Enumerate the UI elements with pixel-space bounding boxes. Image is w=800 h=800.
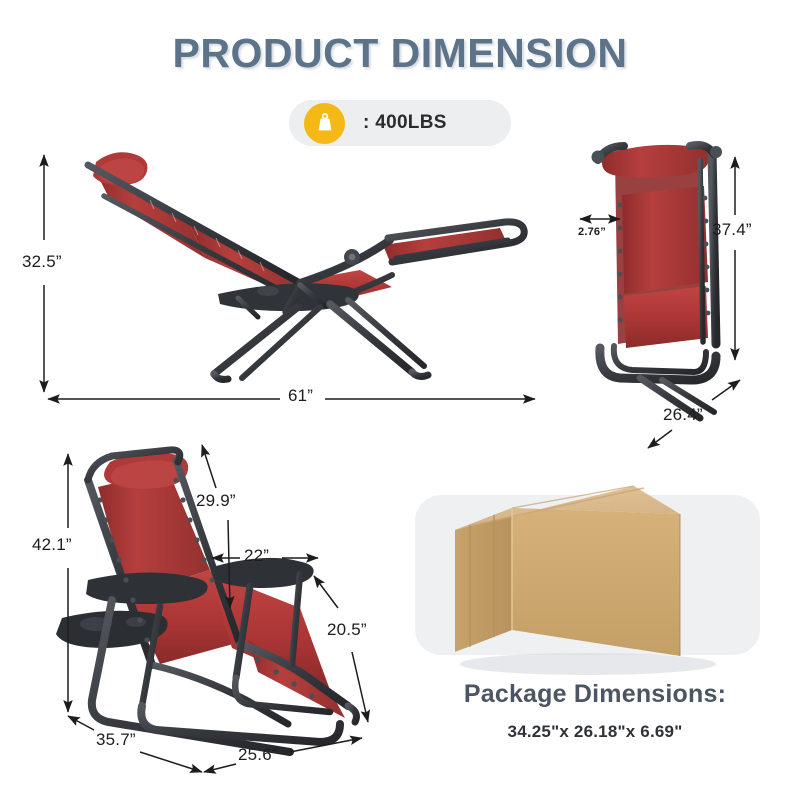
package-dimensions-value: 34.25"x 26.18"x 6.69" (415, 722, 775, 742)
infographic-canvas: PRODUCT DIMENSION : 400LBS (0, 0, 800, 800)
package-dimensions-title: Package Dimensions: (415, 680, 775, 709)
